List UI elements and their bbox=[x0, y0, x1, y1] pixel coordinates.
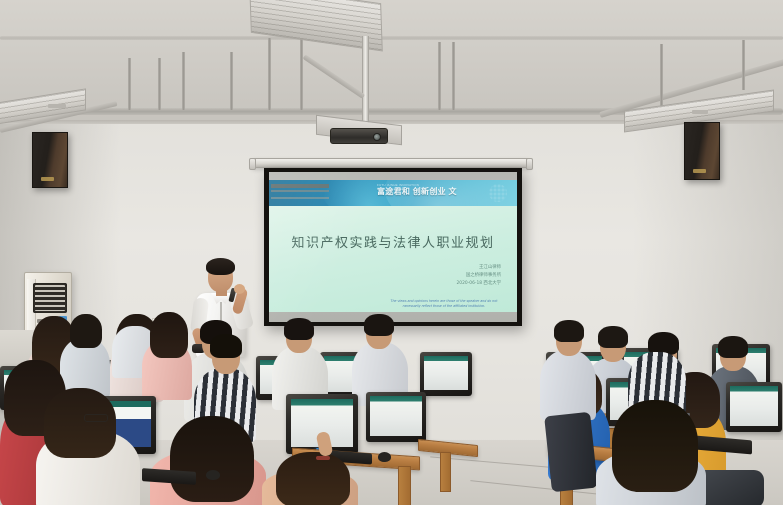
monitor-screen bbox=[730, 386, 778, 426]
ceiling-projector bbox=[330, 128, 388, 144]
attendee-hair bbox=[70, 314, 102, 348]
slide-banner: FUTU JUNHE INNOVATION 富途君和 创新创业 文 bbox=[269, 180, 517, 206]
ceiling-pipe-upper bbox=[0, 36, 783, 40]
slide-meta-date-venue: 2020-06-18 西北大学 bbox=[457, 280, 501, 288]
eyeglasses-icon bbox=[84, 414, 108, 422]
ac-vent-louvers bbox=[35, 285, 65, 311]
attendee-hair bbox=[170, 416, 254, 502]
speaker-brand-badge bbox=[693, 169, 706, 173]
wrist-bracelet bbox=[316, 456, 330, 460]
projector-lens bbox=[373, 133, 381, 141]
pipe-hanger-5 bbox=[268, 38, 271, 110]
slide-meta: 王江山律师 国之桥律师事务所 2020-06-18 西北大学 bbox=[457, 264, 501, 288]
banner-temple-roof-graphic bbox=[271, 184, 329, 206]
wall-speaker-left bbox=[32, 132, 68, 188]
monitor[interactable] bbox=[726, 382, 782, 432]
pipe-hanger-1 bbox=[128, 58, 131, 110]
attendee-hair bbox=[612, 400, 698, 492]
pipe-hanger-10 bbox=[742, 40, 745, 90]
desk-leg bbox=[440, 452, 451, 492]
screen-housing-cap-right bbox=[526, 158, 533, 170]
pipe-hanger-3 bbox=[182, 52, 185, 110]
monitor-screen bbox=[424, 356, 468, 390]
monitor[interactable] bbox=[366, 392, 426, 442]
attendee-hair bbox=[284, 318, 314, 340]
attendee-hair bbox=[554, 320, 584, 342]
speaker-brand-badge bbox=[41, 177, 54, 181]
slide-meta-speaker: 王江山律师 bbox=[457, 264, 501, 272]
pipe-hanger-9 bbox=[660, 44, 663, 112]
ac-air-vent bbox=[33, 283, 67, 313]
presenter-hair bbox=[206, 258, 235, 275]
pipe-hanger-8 bbox=[452, 42, 455, 110]
screen-housing-cap-left bbox=[249, 158, 256, 170]
projection-screen-housing[interactable] bbox=[252, 158, 530, 168]
banner-dot-pattern bbox=[489, 184, 507, 202]
slide-disclaimer: The views and opinions herein are those … bbox=[385, 299, 503, 308]
attendee-hair bbox=[210, 334, 242, 358]
attendee-hair bbox=[718, 336, 748, 358]
mouse[interactable] bbox=[378, 452, 391, 462]
attendee-hair bbox=[364, 314, 394, 336]
desk-leg bbox=[398, 466, 411, 505]
slide-title: 知识产权实践与法律人职业规划 bbox=[269, 232, 517, 251]
wall-speaker-right bbox=[684, 122, 720, 180]
attendee-hair bbox=[276, 452, 350, 505]
projector-mount-pole bbox=[362, 36, 369, 132]
speaker-right-bracket bbox=[692, 110, 708, 114]
pipe-hanger-2 bbox=[158, 58, 161, 110]
attendee-hair bbox=[44, 388, 116, 458]
attendee-legs bbox=[544, 412, 598, 492]
mouse[interactable] bbox=[206, 470, 220, 480]
speaker-left-bracket bbox=[48, 104, 66, 108]
presenter-right-hand bbox=[234, 284, 245, 294]
monitor-screen bbox=[370, 396, 422, 436]
banner-logo-text: 富途君和 创新创业 文 bbox=[377, 186, 457, 197]
attendee-hair bbox=[150, 312, 188, 358]
pipe-hanger-6 bbox=[300, 38, 303, 110]
projection-screen: FUTU JUNHE INNOVATION 富途君和 创新创业 文 知识产权实践… bbox=[264, 168, 522, 326]
presentation-slide: FUTU JUNHE INNOVATION 富途君和 创新创业 文 知识产权实践… bbox=[269, 180, 517, 312]
monitor[interactable] bbox=[420, 352, 472, 396]
slide-meta-organization: 国之桥律师事务所 bbox=[457, 272, 501, 280]
attendee-hair bbox=[598, 326, 628, 348]
screen-surface: FUTU JUNHE INNOVATION 富途君和 创新创业 文 知识产权实践… bbox=[269, 172, 517, 322]
attendee-torso bbox=[540, 350, 596, 420]
pipe-hanger-7 bbox=[438, 42, 441, 110]
pipe-hanger-4 bbox=[230, 52, 233, 110]
classroom-photo: FUTU JUNHE INNOVATION 富途君和 创新创业 文 知识产权实践… bbox=[0, 0, 783, 505]
